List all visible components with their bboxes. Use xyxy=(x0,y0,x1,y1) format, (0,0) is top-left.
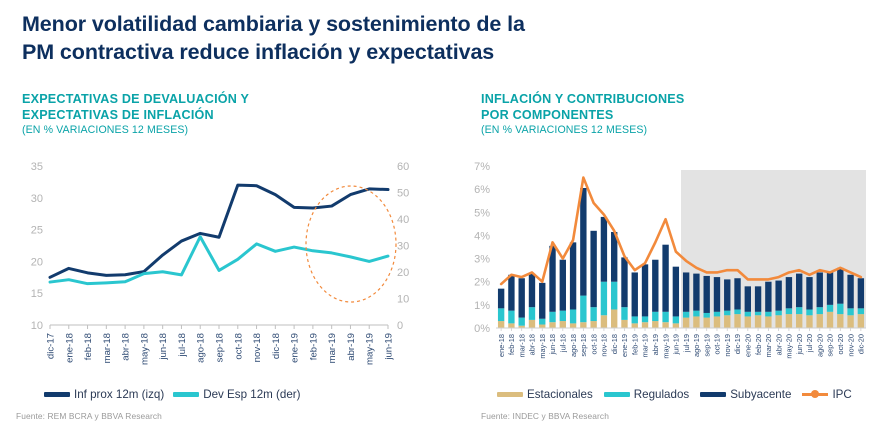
right-chart-bar-segment xyxy=(775,281,781,311)
right-chart-legend-item: IPC xyxy=(802,388,851,401)
legend-swatch-subyacente xyxy=(700,392,726,397)
right-chart-bar-segment xyxy=(560,321,566,328)
left-chart-xtick-label: may-19 xyxy=(365,333,376,365)
right-chart-ytick-label: 4% xyxy=(474,230,490,242)
right-chart-xtick-label: may-18 xyxy=(538,334,547,359)
right-chart-bar-segment xyxy=(601,282,607,316)
right-chart-bar-segment xyxy=(786,277,792,308)
left-chart-ytick-right: 40 xyxy=(397,214,409,226)
right-chart-bar-segment xyxy=(683,318,689,328)
right-chart-bar-segment xyxy=(673,323,679,328)
right-chart-bar-segment xyxy=(498,321,504,328)
right-chart-xtick-label: abr-20 xyxy=(774,334,783,355)
right-chart-xtick-label: sep-20 xyxy=(826,334,835,357)
right-chart-bar-segment xyxy=(704,276,710,313)
right-chart-bar-segment xyxy=(765,316,771,328)
left-chart-xtick-label: abr-19 xyxy=(346,333,357,361)
left-chart-ytick-left: 15 xyxy=(31,288,43,300)
right-chart-bar-segment xyxy=(652,321,658,328)
right-chart-bar-segment xyxy=(745,312,751,317)
left-chart-xtick-label: nov-18 xyxy=(252,333,263,362)
right-chart-heading-line-2: POR COMPONENTES xyxy=(481,108,861,124)
right-chart-xtick-label: jun-19 xyxy=(672,334,681,356)
right-chart-bar-segment xyxy=(570,323,576,328)
right-chart-bar-segment xyxy=(580,296,586,323)
right-chart-bar-segment xyxy=(508,311,514,324)
right-chart-bar-segment xyxy=(745,316,751,328)
right-chart-xtick-label: dic-20 xyxy=(857,334,866,354)
legend-swatch-estacionales xyxy=(497,392,523,397)
right-chart-xtick-label: abr-18 xyxy=(528,334,537,355)
right-chart-xtick-label: oct-20 xyxy=(836,334,845,355)
right-chart-bar-segment xyxy=(570,242,576,309)
left-chart-xtick-label: mar-18 xyxy=(102,333,113,363)
left-chart-ytick-left: 20 xyxy=(31,256,43,268)
right-chart-bar-segment xyxy=(683,272,689,311)
right-chart-bar-segment xyxy=(621,257,627,307)
right-chart-bar-segment xyxy=(549,322,555,328)
right-chart-bar-segment xyxy=(570,309,576,323)
legend-swatch-ipc xyxy=(802,393,828,396)
right-chart-ytick-label: 0% xyxy=(474,323,490,335)
right-chart-bar-segment xyxy=(724,279,730,310)
left-chart-ytick-right: 60 xyxy=(397,161,409,173)
right-chart-bar-segment xyxy=(673,316,679,323)
right-chart-bar-segment xyxy=(621,320,627,328)
right-chart-xtick-label: may-20 xyxy=(785,334,794,359)
left-chart-ytick-right: 0 xyxy=(397,320,403,332)
right-chart-bar-segment xyxy=(796,307,802,314)
right-chart-bar-segment xyxy=(745,286,751,311)
right-chart-bar-segment xyxy=(498,308,504,321)
right-chart-xtick-label: dic-19 xyxy=(733,334,742,354)
left-chart-xtick-label: ago-18 xyxy=(196,333,207,363)
right-chart-bar-segment xyxy=(662,245,668,312)
right-chart-bar-segment xyxy=(847,275,853,309)
right-chart-bar-segment xyxy=(817,272,823,307)
left-chart-ytick-left: 25 xyxy=(31,225,43,237)
right-chart-xtick-label: oct-18 xyxy=(589,334,598,355)
right-chart-bar-segment xyxy=(724,311,730,316)
legend-label: Subyacente xyxy=(730,388,791,401)
right-chart-bar-segment xyxy=(847,315,853,328)
right-chart-bar-segment xyxy=(560,311,566,321)
left-chart-xtick-label: feb-19 xyxy=(308,333,319,360)
left-chart-xtick-label: jun-19 xyxy=(384,333,395,361)
right-chart-xtick-label: feb-20 xyxy=(754,334,763,355)
right-chart-bar-segment xyxy=(704,313,710,318)
right-chart-legend-item: Subyacente xyxy=(700,388,791,401)
right-chart-bar-segment xyxy=(693,311,699,317)
left-chart-xtick-label: may-18 xyxy=(139,333,150,365)
right-chart-bar-segment xyxy=(858,278,864,308)
right-chart-bar-segment xyxy=(529,307,535,320)
right-chart-bar-segment xyxy=(817,314,823,328)
right-chart-bar-segment xyxy=(755,315,761,328)
right-chart-legend: EstacionalesReguladosSubyacenteIPC xyxy=(497,388,852,401)
right-chart-bar-segment xyxy=(519,278,525,317)
right-chart-xtick-label: ago-20 xyxy=(815,334,824,357)
right-chart-bar-segment xyxy=(519,318,525,326)
right-chart-bar-segment xyxy=(827,271,833,305)
right-chart-bar-segment xyxy=(817,307,823,314)
legend-swatch-inf-prox-m-izq- xyxy=(44,392,70,397)
right-chart-bar-segment xyxy=(580,322,586,328)
right-chart-bar-segment xyxy=(704,318,710,328)
right-chart-xtick-label: feb-18 xyxy=(507,334,516,355)
right-chart-xtick-label: jul-20 xyxy=(805,334,814,353)
left-chart-legend-item: Inf prox 12m (izq) xyxy=(44,388,164,401)
right-chart-bar-segment xyxy=(601,217,607,282)
right-chart-bar-segment xyxy=(714,312,720,317)
right-chart-bar-segment xyxy=(693,316,699,328)
right-chart-bar-segment xyxy=(539,325,545,328)
left-chart-xtick-label: sep-18 xyxy=(215,333,226,362)
right-chart-xtick-label: mar-18 xyxy=(517,334,526,357)
right-chart-bar-segment xyxy=(714,277,720,312)
right-chart-ytick-label: 2% xyxy=(474,277,490,289)
right-chart-xtick-label: feb-19 xyxy=(630,334,639,355)
right-chart-ytick-label: 1% xyxy=(474,300,490,312)
right-chart-bar-segment xyxy=(529,274,535,308)
right-chart-ytick-label: 3% xyxy=(474,254,490,266)
right-chart-xtick-label: oct-19 xyxy=(713,334,722,355)
left-chart-legend-item: Dev Esp 12m (der) xyxy=(173,388,300,401)
right-chart-xtick-label: ago-18 xyxy=(569,334,578,357)
right-chart-bar-segment xyxy=(775,311,781,316)
left-chart-xtick-label: oct-18 xyxy=(233,333,244,360)
right-chart-bar-segment xyxy=(590,307,596,321)
left-chart-xtick-label: feb-18 xyxy=(83,333,94,360)
right-chart-bar-segment xyxy=(765,282,771,312)
right-chart-bar-segment xyxy=(652,260,658,312)
right-chart-bar-segment xyxy=(837,268,843,304)
left-chart-ytick-left: 35 xyxy=(31,161,43,173)
right-chart-ytick-label: 5% xyxy=(474,207,490,219)
left-chart-ytick-left: 30 xyxy=(31,193,43,205)
left-chart-xtick-label: abr-18 xyxy=(121,333,132,361)
legend-swatch-regulados xyxy=(604,392,630,397)
right-chart-xtick-label: abr-19 xyxy=(651,334,660,355)
right-chart-bar-segment xyxy=(847,308,853,315)
right-chart-bar-segment xyxy=(786,314,792,328)
right-chart-bar-segment xyxy=(806,277,812,309)
right-chart-xtick-label: ago-19 xyxy=(692,334,701,357)
legend-label: IPC xyxy=(832,388,851,401)
legend-label: Regulados xyxy=(634,388,689,401)
page-title-line-2: PM contractiva reduce inflación y expect… xyxy=(22,38,742,66)
left-chart-heading: EXPECTATIVAS DE DEVALUACIÓN Y EXPECTATIV… xyxy=(22,92,422,138)
right-chart-xtick-label: jul-19 xyxy=(682,334,691,353)
right-chart-bar-segment xyxy=(642,316,648,322)
right-chart-bar-segment xyxy=(662,312,668,322)
page-title: Menor volatilidad cambiaria y sostenimie… xyxy=(22,10,742,67)
right-chart-bar-segment xyxy=(765,312,771,317)
right-chart-legend-item: Estacionales xyxy=(497,388,593,401)
right-chart-heading-line-1: INFLACIÓN Y CONTRIBUCIONES xyxy=(481,92,861,108)
page-title-line-1: Menor volatilidad cambiaria y sostenimie… xyxy=(22,10,742,38)
left-chart-heading-line-2: EXPECTATIVAS DE INFLACIÓN xyxy=(22,108,422,124)
right-chart-bar-segment xyxy=(858,308,864,314)
right-chart-ytick-label: 6% xyxy=(474,184,490,196)
right-chart-bar-segment xyxy=(621,307,627,320)
right-chart-bar-segment xyxy=(724,315,730,328)
right-chart-xtick-label: mar-19 xyxy=(641,334,650,357)
left-chart-xtick-label: mar-19 xyxy=(327,333,338,363)
left-chart-subheading: (EN % VARIACIONES 12 MESES) xyxy=(22,124,422,138)
right-chart-xtick-label: ene-20 xyxy=(744,334,753,357)
left-chart-xtick-label: ene-19 xyxy=(290,333,301,363)
right-chart-source: Fuente: INDEC y BBVA Research xyxy=(481,411,609,421)
right-chart-bar-segment xyxy=(560,260,566,311)
right-chart-bar-segment xyxy=(806,309,812,315)
right-chart-bar-segment xyxy=(837,304,843,314)
right-chart-ytick-label: 7% xyxy=(474,161,490,173)
left-chart-ytick-right: 50 xyxy=(397,188,409,200)
right-chart-bar-segment xyxy=(827,305,833,312)
slide-root: Menor volatilidad cambiaria y sostenimie… xyxy=(0,0,881,429)
left-chart-ytick-right: 20 xyxy=(397,267,409,279)
right-chart-xtick-label: nov-19 xyxy=(723,334,732,357)
legend-swatch-dev-esp-m-der- xyxy=(173,392,199,397)
left-chart-ytick-right: 10 xyxy=(397,294,409,306)
inflation-chart-svg: 0%1%2%3%4%5%6%7%ene-18feb-18mar-18abr-18… xyxy=(462,158,874,383)
right-chart-bar-segment xyxy=(662,322,668,328)
right-chart-bar-segment xyxy=(837,314,843,328)
right-chart-bar-segment xyxy=(796,314,802,328)
expectations-line-chart: 1015202530350102030405060dic-17ene-18feb… xyxy=(14,158,434,383)
right-chart-bar-segment xyxy=(611,309,617,328)
right-chart-bar-segment xyxy=(642,322,648,328)
right-chart-bar-segment xyxy=(714,316,720,328)
right-chart-bar-segment xyxy=(601,315,607,328)
left-chart-ytick-right: 30 xyxy=(397,241,409,253)
right-chart-bar-segment xyxy=(827,312,833,328)
right-chart-bar-segment xyxy=(549,312,555,322)
right-chart-xtick-label: ene-18 xyxy=(497,334,506,357)
left-chart-source: Fuente: REM BCRA y BBVA Research xyxy=(16,411,162,421)
left-chart-series-dev-esp xyxy=(50,237,388,284)
right-chart-bar-segment xyxy=(796,274,802,308)
right-chart-xtick-label: jul-18 xyxy=(559,334,568,353)
left-chart-xtick-label: jul-18 xyxy=(177,333,188,357)
left-chart-heading-line-1: EXPECTATIVAS DE DEVALUACIÓN Y xyxy=(22,92,422,108)
right-chart-bar-segment xyxy=(529,320,535,328)
right-chart-bar-segment xyxy=(632,323,638,328)
right-chart-xtick-label: jun-20 xyxy=(795,334,804,356)
right-chart-bar-segment xyxy=(642,264,648,316)
right-chart-xtick-label: nov-18 xyxy=(600,334,609,357)
right-chart-bar-segment xyxy=(508,275,514,311)
right-chart-xtick-label: mar-20 xyxy=(764,334,773,357)
right-chart-xtick-label: sep-18 xyxy=(579,334,588,357)
right-chart-bar-segment xyxy=(673,267,679,317)
left-chart-xtick-label: dic-18 xyxy=(271,333,282,359)
legend-label: Dev Esp 12m (der) xyxy=(203,388,300,401)
right-chart-bar-segment xyxy=(734,309,740,314)
right-chart-bar-segment xyxy=(775,315,781,328)
left-chart-ytick-left: 10 xyxy=(31,320,43,332)
left-chart-xtick-label: ene-18 xyxy=(64,333,75,363)
left-chart-xtick-label: dic-17 xyxy=(46,333,57,359)
left-chart-highlight-ellipse xyxy=(306,186,396,302)
right-chart-bar-segment xyxy=(652,312,658,321)
right-chart-bar-segment xyxy=(755,312,761,315)
right-chart-xtick-label: jun-18 xyxy=(548,334,557,356)
right-chart-xtick-label: sep-19 xyxy=(702,334,711,357)
right-chart-bar-segment xyxy=(734,314,740,328)
left-chart-series-inf-prox xyxy=(50,185,388,277)
right-chart-bar-segment xyxy=(632,272,638,316)
right-chart-heading: INFLACIÓN Y CONTRIBUCIONES POR COMPONENT… xyxy=(481,92,861,138)
right-chart-bar-segment xyxy=(590,231,596,307)
left-chart-xtick-label: jun-18 xyxy=(158,333,169,361)
right-chart-bar-segment xyxy=(734,278,740,309)
right-chart-bar-segment xyxy=(632,316,638,323)
right-chart-bar-segment xyxy=(611,282,617,310)
right-chart-bar-segment xyxy=(786,308,792,314)
right-chart-subheading: (EN % VARIACIONES 12 MESES) xyxy=(481,124,861,138)
right-chart-bar-segment xyxy=(683,312,689,318)
right-chart-bar-segment xyxy=(693,274,699,311)
right-chart-bar-segment xyxy=(508,323,514,328)
legend-label: Inf prox 12m (izq) xyxy=(74,388,164,401)
right-chart-legend-item: Regulados xyxy=(604,388,689,401)
left-chart-legend: Inf prox 12m (izq)Dev Esp 12m (der) xyxy=(44,388,301,401)
right-chart-bar-segment xyxy=(755,286,761,311)
right-chart-xtick-label: may-19 xyxy=(661,334,670,359)
legend-label: Estacionales xyxy=(527,388,593,401)
inflation-contributions-chart: 0%1%2%3%4%5%6%7%ene-18feb-18mar-18abr-18… xyxy=(462,158,874,383)
right-chart-bar-segment xyxy=(498,289,504,309)
right-chart-bar-segment xyxy=(858,314,864,328)
right-chart-xtick-label: dic-18 xyxy=(610,334,619,354)
right-chart-bar-segment xyxy=(539,319,545,325)
right-chart-bar-segment xyxy=(590,321,596,328)
right-chart-bar-segment xyxy=(580,188,586,296)
right-chart-bar-segment xyxy=(806,315,812,328)
right-chart-bar-segment xyxy=(539,283,545,319)
right-chart-xtick-label: ene-19 xyxy=(620,334,629,357)
right-chart-xtick-label: nov-20 xyxy=(846,334,855,357)
expectations-chart-svg: 1015202530350102030405060dic-17ene-18feb… xyxy=(14,158,434,383)
